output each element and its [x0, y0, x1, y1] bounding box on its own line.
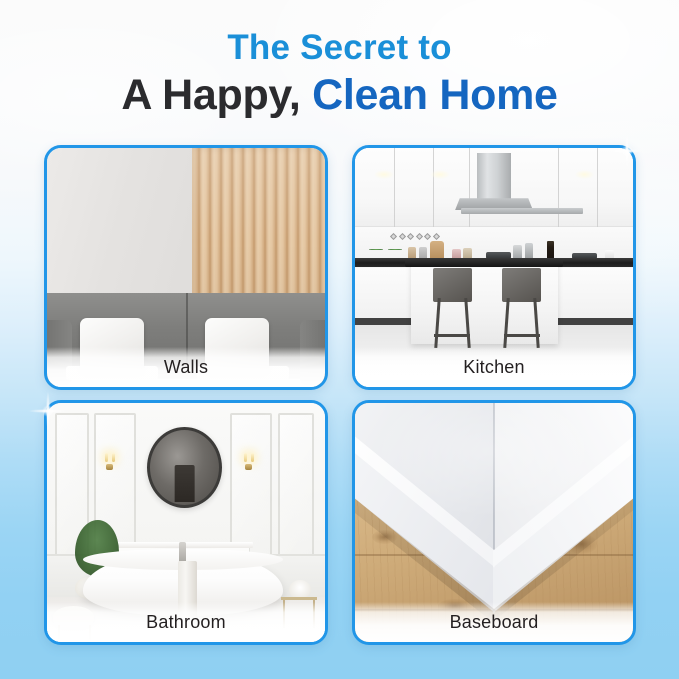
heading-line-2: A Happy, Clean Home — [0, 72, 679, 119]
bathroom-mirror-reflection — [174, 465, 195, 503]
kitchen-cabinet-seam — [469, 148, 470, 227]
kitchen-plant — [369, 249, 383, 250]
heading-segment-dark: A Happy, — [121, 71, 300, 119]
bathroom-wall-sconce — [103, 453, 117, 470]
bathroom-wall-panel — [278, 413, 314, 576]
card-baseboard[interactable]: Baseboard — [352, 400, 636, 645]
card-bathroom[interactable]: Bathroom — [44, 400, 328, 645]
kitchen-ceiling-light — [430, 170, 449, 180]
kitchen-range-hood-duct — [477, 153, 510, 201]
card-kitchen[interactable]: Kitchen — [352, 145, 636, 390]
kitchen-cabinet-seam — [394, 148, 395, 227]
bathroom-round-mirror — [147, 427, 222, 508]
kitchen-wall-rail — [391, 234, 438, 239]
kitchen-bottle — [525, 243, 533, 259]
page-heading: The Secret to A Happy, Clean Home — [0, 28, 679, 119]
kitchen-cutting-board — [430, 241, 444, 259]
bathroom-faucet — [179, 542, 186, 564]
kitchen-bar-stool — [502, 268, 541, 349]
kitchen-island-countertop — [405, 259, 563, 267]
kitchen-ceiling-light — [374, 170, 393, 180]
kitchen-counter-items — [355, 241, 633, 259]
card-baseboard-label: Baseboard — [355, 602, 633, 642]
kitchen-bar-stool — [433, 268, 472, 349]
card-bathroom-label: Bathroom — [47, 602, 325, 642]
bathroom-wall-sconce — [242, 453, 256, 470]
feature-card-grid: Walls — [44, 145, 636, 645]
card-walls-label: Walls — [47, 347, 325, 387]
kitchen-cabinet-seam — [597, 148, 598, 227]
heading-segment-blue: Clean Home — [312, 71, 558, 119]
kitchen-ceiling-light — [575, 170, 594, 180]
kitchen-wine-bottle — [547, 241, 554, 259]
kitchen-cabinet-seam — [433, 148, 434, 227]
kitchen-plant — [388, 249, 402, 250]
kitchen-range-hood-shelf — [461, 208, 583, 214]
card-kitchen-label: Kitchen — [355, 347, 633, 387]
card-walls[interactable]: Walls — [44, 145, 328, 390]
kitchen-cabinet-seam — [558, 148, 559, 227]
heading-line-1: The Secret to — [0, 28, 679, 67]
